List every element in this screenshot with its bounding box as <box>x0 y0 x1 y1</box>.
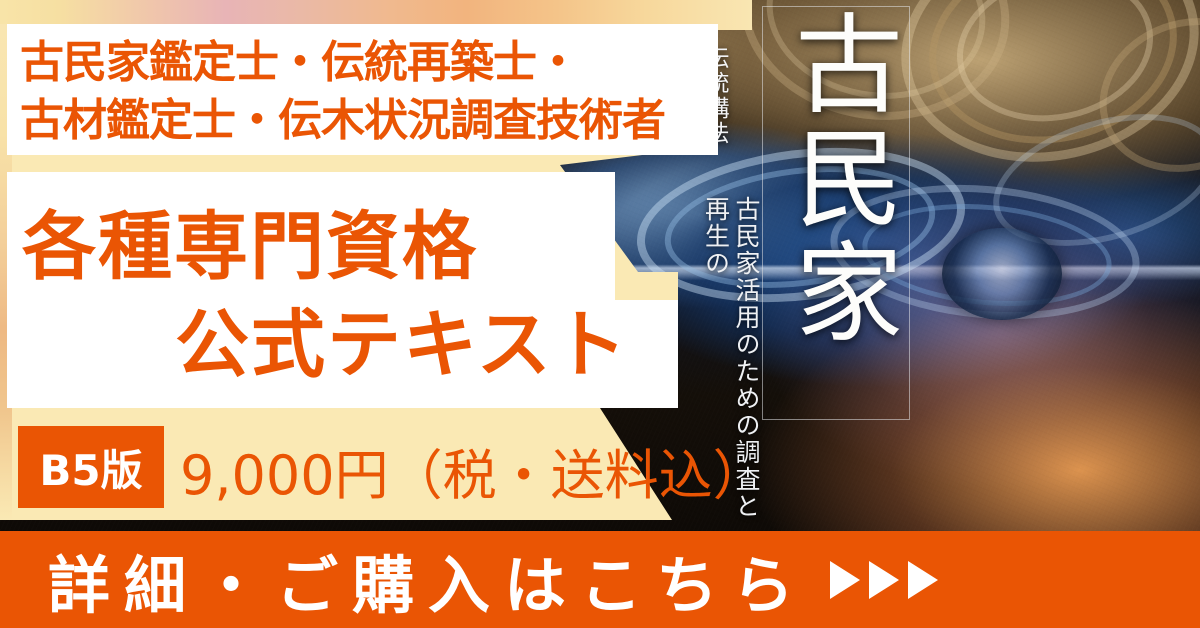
price-text: 9,000円（税・送料込） <box>180 431 767 510</box>
size-badge: B5版 <box>18 426 164 508</box>
carved-swirl-icon <box>879 0 1200 189</box>
carved-swirl-icon <box>1078 0 1200 196</box>
promo-banner[interactable]: 古民家 伝統構法 古民家活用のための調査と再生の 古民家鑑定士・伝統再築士・ 古… <box>0 0 1200 628</box>
qualifications-line-1: 古民家鑑定士・伝統再築士・ <box>20 26 579 90</box>
triangle-right-icon <box>869 561 899 599</box>
title-line-2: 公式テキスト <box>175 285 629 392</box>
qualifications-line-2: 古材鑑定士・伝木状況調査技術者 <box>20 84 665 148</box>
size-badge-label: B5版 <box>39 437 142 498</box>
cta-label: 詳細・ご購入はこちら <box>48 535 808 625</box>
book-cover-title: 古民家 <box>770 8 902 350</box>
cta-bar[interactable]: 詳細・ご購入はこちら <box>0 531 1200 628</box>
cta-arrows <box>830 561 938 599</box>
rosette-medallion-icon <box>942 228 1062 320</box>
triangle-right-icon <box>908 561 938 599</box>
carved-swirl-icon <box>911 0 1195 166</box>
title-line-1: 各種専門資格 <box>22 187 478 294</box>
carved-swirl-icon <box>943 0 1167 139</box>
triangle-right-icon <box>830 561 860 599</box>
